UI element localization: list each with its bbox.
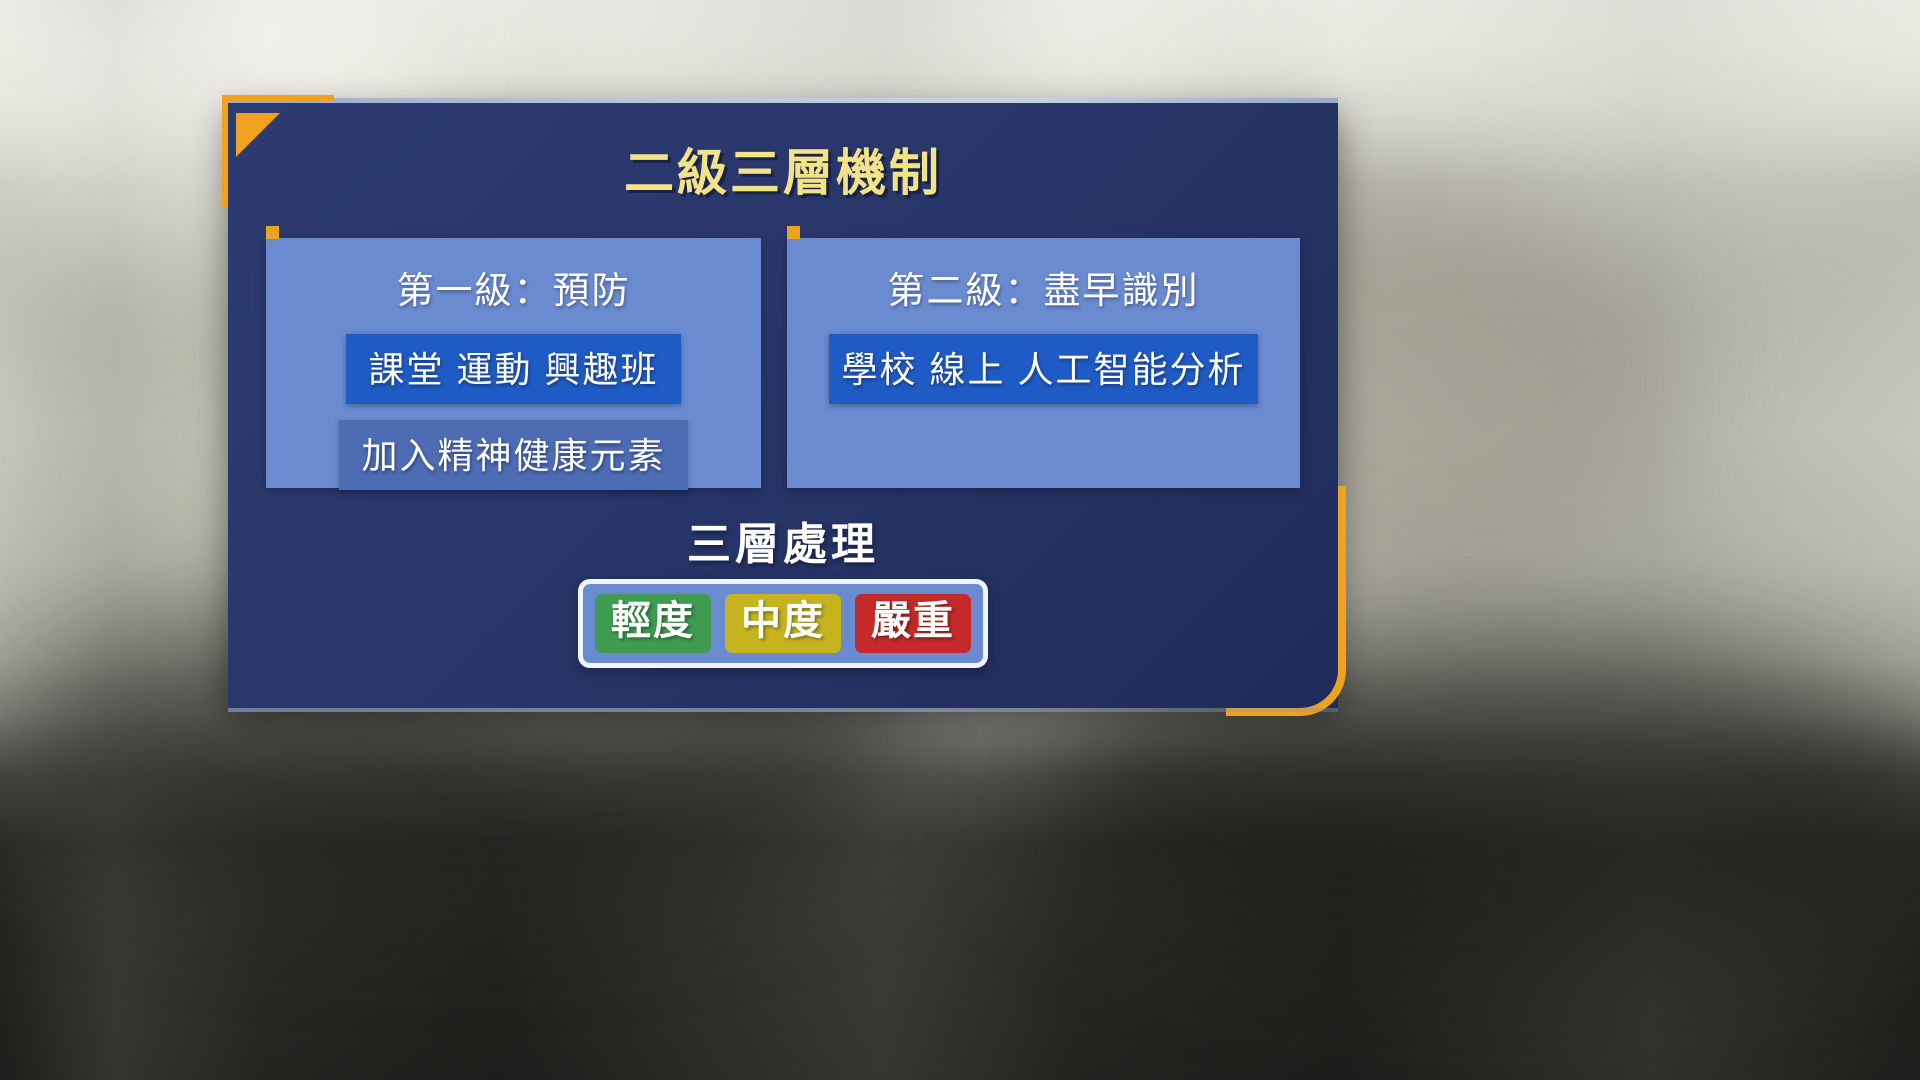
- level-2-heading: 第二級：盡早識別: [787, 260, 1300, 314]
- level-1-item-2: 加入精神健康元素: [339, 420, 687, 490]
- level-1-item-1: 課堂 運動 興趣班: [346, 334, 680, 404]
- screenshot-stage: 二級三層機制 第一級：預防 課堂 運動 興趣班 加入精神健康元素 第二級：盡早識…: [0, 0, 1920, 1080]
- info-graphic-card: 二級三層機制 第一級：預防 課堂 運動 興趣班 加入精神健康元素 第二級：盡早識…: [228, 103, 1338, 708]
- level-panel-1: 第一級：預防 課堂 運動 興趣班 加入精神健康元素: [266, 238, 761, 488]
- level-2-item-1: 學校 線上 人工智能分析: [829, 334, 1257, 404]
- level-1-heading: 第一級：預防: [266, 260, 761, 314]
- accent-top-rail: [222, 95, 334, 101]
- tier-badge-strip: 輕度 中度 嚴重: [578, 579, 988, 668]
- page-title: 二級三層機制: [228, 133, 1338, 205]
- level-panel-2: 第二級：盡早識別 學校 線上 人工智能分析: [787, 238, 1300, 488]
- tier-badge-moderate: 中度: [725, 594, 841, 653]
- panel-tab-marker: [787, 226, 800, 239]
- levels-container: 第一級：預防 課堂 運動 興趣班 加入精神健康元素 第二級：盡早識別 學校 線上…: [266, 238, 1300, 488]
- tier-badge-severe: 嚴重: [855, 594, 971, 653]
- tier-badge-mild: 輕度: [595, 594, 711, 653]
- tier-section-heading: 三層處理: [228, 508, 1338, 572]
- panel-tab-marker: [266, 226, 279, 239]
